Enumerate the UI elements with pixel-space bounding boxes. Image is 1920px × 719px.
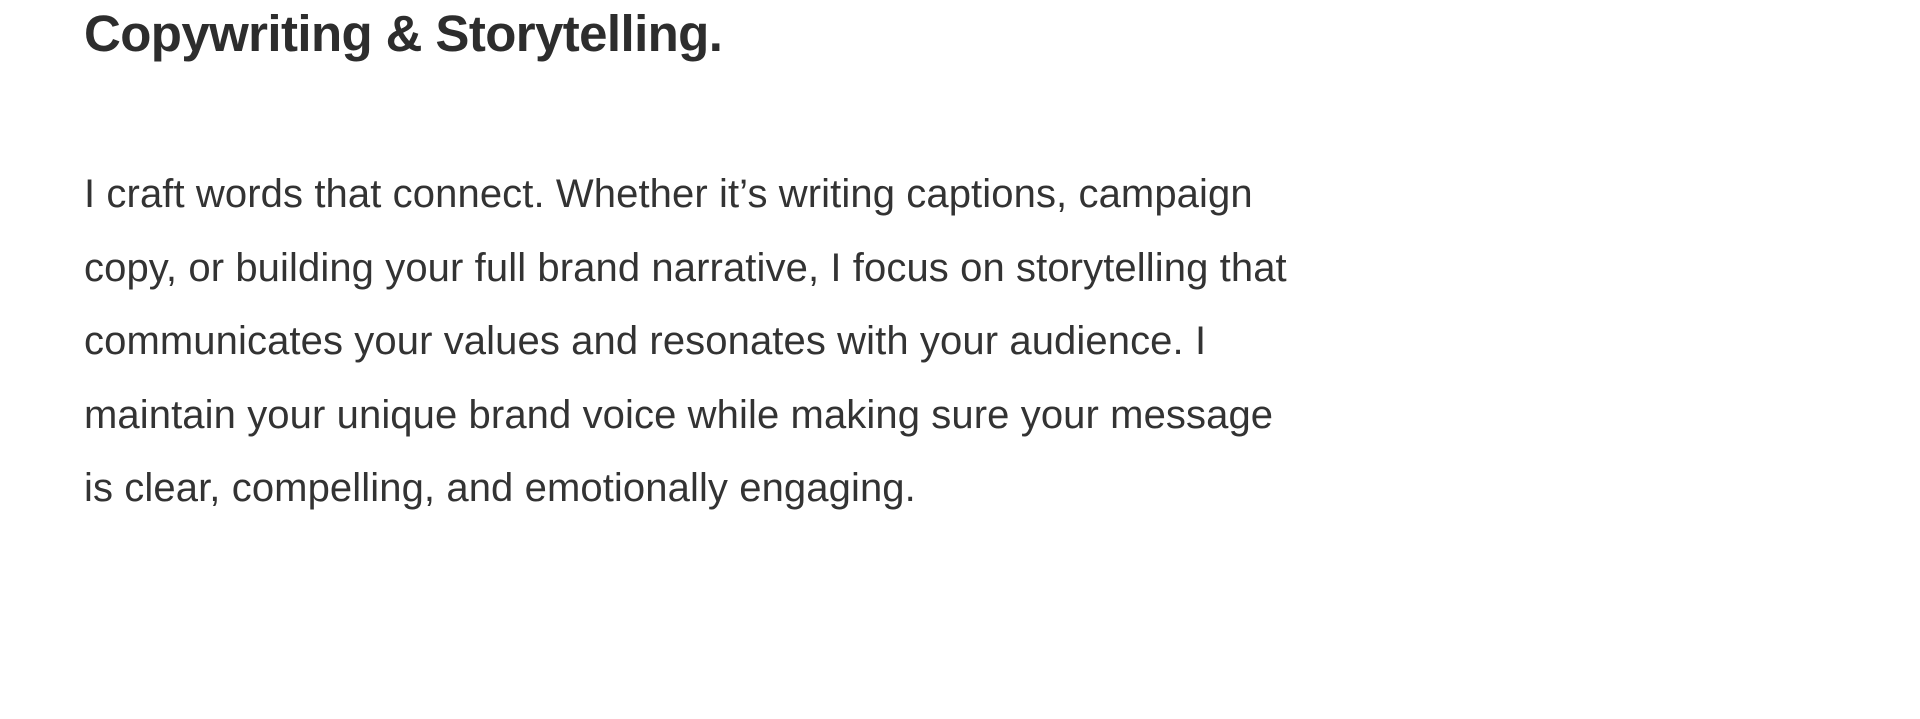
page-root: Copywriting & Storytelling. I craft word… <box>0 0 1920 719</box>
page-title: Copywriting & Storytelling. <box>84 0 1299 68</box>
section-body-paragraph: I craft words that connect. Whether it’s… <box>84 158 1299 526</box>
heading-body-spacer <box>84 68 1299 158</box>
section-content: Copywriting & Storytelling. I craft word… <box>84 0 1299 526</box>
